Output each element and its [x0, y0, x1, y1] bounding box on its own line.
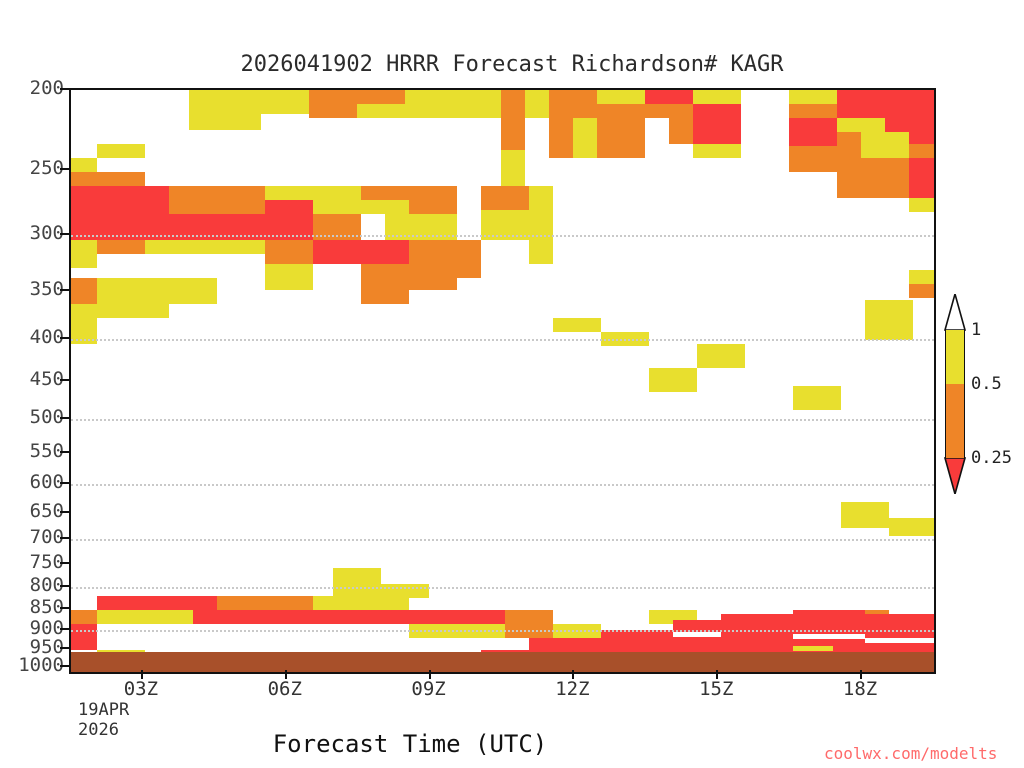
y-axis-tick-label: 500 [6, 406, 64, 428]
heatmap-cell [481, 210, 553, 240]
heatmap-cell [71, 624, 97, 650]
heatmap-cell [597, 104, 621, 158]
x-axis-title: Forecast Time (UTC) [0, 730, 820, 758]
heatmap-cell [505, 624, 553, 638]
y-axis-tick-label: 850 [6, 596, 64, 618]
heatmap-cell [553, 624, 601, 638]
plot-area [69, 88, 936, 674]
heatmap-cell [673, 632, 721, 637]
heatmap-cell [885, 90, 934, 118]
heatmap-cell [71, 158, 97, 172]
y-axis-tick-mark [60, 607, 69, 609]
heatmap-cell [573, 118, 597, 158]
heatmap-cell [909, 198, 934, 212]
y-axis-tick-label: 350 [6, 278, 64, 300]
y-axis-tick-mark [60, 337, 69, 339]
heatmap-cell [457, 240, 481, 264]
chart-root: 2026041902 HRRR Forecast Richardson# KAG… [0, 0, 1024, 768]
heatmap-cell [409, 214, 457, 240]
heatmap-cell [909, 144, 934, 158]
heatmap-cell [71, 278, 97, 304]
page-title: 2026041902 HRRR Forecast Richardson# KAG… [0, 52, 1024, 77]
heatmap-cell [357, 90, 405, 104]
heatmap-cell [645, 104, 693, 118]
y-axis-labels: 2002503003504004505005506006507007508008… [0, 0, 64, 768]
heatmap-cell [265, 200, 313, 240]
heatmap-cell [409, 240, 457, 264]
heatmap-cell [621, 104, 645, 158]
heatmap-cell [169, 186, 265, 214]
heatmap-cell [71, 186, 169, 240]
y-axis-tick-label: 600 [6, 471, 64, 493]
heatmap-cell [549, 90, 597, 118]
heatmap-cell [909, 284, 934, 298]
heatmap-cell [357, 104, 405, 118]
y-axis-tick-mark [60, 168, 69, 170]
heatmap-cell [789, 90, 837, 104]
heatmap-cell [525, 90, 549, 104]
x-axis-tick-label: 09Z [389, 678, 469, 700]
y-axis-tick-label: 750 [6, 551, 64, 573]
y-axis-tick-label: 700 [6, 526, 64, 548]
y-axis-tick-label: 250 [6, 157, 64, 179]
heatmap-cell [333, 568, 381, 596]
heatmap-cell [837, 104, 885, 118]
heatmap-cell [793, 386, 841, 410]
x-axis-tick-label: 15Z [676, 678, 756, 700]
x-axis-labels: 03Z06Z09Z12Z15Z18Z [0, 678, 1024, 718]
heatmap-cell [313, 186, 361, 214]
heatmap-cell [361, 214, 385, 240]
heatmap-cell [457, 624, 505, 638]
heatmap-cell [313, 596, 409, 610]
heatmap-cell [217, 596, 313, 610]
heatmap-cell [265, 186, 313, 200]
colorbar-tick-label: 0.25 [971, 448, 1012, 468]
heatmap-cell [481, 186, 529, 210]
heatmap-cell [169, 278, 217, 304]
heatmap-cell [97, 240, 145, 254]
heatmap-cell [841, 502, 889, 528]
heatmap-cell [793, 610, 865, 624]
heatmap-cell [71, 610, 97, 624]
heatmap-cell [645, 90, 693, 104]
heatmap-cell [313, 214, 361, 240]
heatmap-cell [71, 254, 97, 268]
gridline [71, 484, 934, 486]
y-axis-tick-mark [60, 417, 69, 419]
y-axis-tick-mark [60, 562, 69, 564]
heatmap-cell [529, 186, 553, 210]
heatmap-cell [385, 214, 409, 240]
y-axis-tick-mark [60, 88, 69, 90]
heatmap-cell [889, 518, 934, 536]
colorbar-tick-label: 1 [971, 320, 981, 340]
x-axis-tick-label: 03Z [101, 678, 181, 700]
y-axis-tick-mark [60, 585, 69, 587]
x-axis-tick-label: 06Z [245, 678, 325, 700]
y-axis-tick-mark [60, 628, 69, 630]
heatmap-cell [71, 304, 97, 344]
x-axis-tick-label: 18Z [820, 678, 900, 700]
y-axis-tick-mark [60, 647, 69, 649]
heatmap-cell [457, 264, 481, 278]
heatmap-cell [601, 332, 649, 346]
gridline [71, 339, 934, 341]
y-axis-tick-mark [60, 511, 69, 513]
y-axis-tick-mark [60, 233, 69, 235]
y-axis-tick-label: 650 [6, 500, 64, 522]
y-axis-tick-label: 200 [6, 77, 64, 99]
heatmap-cell [189, 90, 261, 130]
heatmap-cell [409, 624, 457, 638]
y-axis-tick-label: 450 [6, 368, 64, 390]
gridline [71, 419, 934, 421]
heatmap-cell [409, 186, 457, 214]
heatmap-cell [71, 240, 97, 254]
heatmap-cell [261, 90, 309, 114]
terrain-band [71, 652, 934, 672]
heatmap-cell [193, 610, 409, 624]
heatmap-cell [693, 104, 741, 144]
heatmap-cell [525, 104, 549, 118]
x-axis-tick-label: 12Z [532, 678, 612, 700]
heatmap-cell [409, 264, 457, 290]
heatmap-cell [789, 104, 837, 118]
heatmap-cell [169, 214, 265, 240]
heatmap-cell [361, 264, 409, 304]
y-axis-tick-mark [60, 537, 69, 539]
y-axis-tick-label: 800 [6, 574, 64, 596]
heatmap-cell [501, 90, 525, 150]
y-axis-tick-mark [60, 665, 69, 667]
y-axis-tick-mark [60, 289, 69, 291]
heatmap-cell [97, 278, 169, 318]
y-axis-tick-label: 550 [6, 440, 64, 462]
colorbar: 10.50.25 [941, 294, 969, 494]
heatmap-cell [505, 610, 553, 624]
y-axis-tick-mark [60, 482, 69, 484]
heatmap-cell [793, 634, 865, 639]
heatmap-cell [865, 638, 934, 643]
heatmap-cell [309, 90, 357, 118]
y-axis-tick-label: 400 [6, 326, 64, 348]
heatmap-canvas [71, 90, 934, 672]
y-axis-tick-label: 1000 [6, 654, 64, 676]
heatmap-cell [697, 344, 745, 368]
heatmap-cell [669, 118, 693, 144]
heatmap-cell [477, 90, 501, 104]
y-axis-tick-mark [60, 379, 69, 381]
heatmap-cell [361, 186, 409, 200]
colorbar-segment [945, 330, 965, 384]
heatmap-cell [265, 240, 313, 264]
heatmap-cell [789, 146, 837, 172]
heatmap-cell [71, 172, 97, 186]
heatmap-cell [837, 158, 885, 198]
heatmap-cell [793, 646, 833, 651]
heatmap-cell [145, 240, 265, 254]
heatmap-cell [909, 270, 934, 284]
gridline [71, 587, 934, 589]
heatmap-cell [477, 104, 501, 118]
heatmap-cell [865, 300, 913, 340]
y-axis-tick-label: 300 [6, 222, 64, 244]
gridline [71, 539, 934, 541]
heatmap-cell [885, 158, 909, 198]
heatmap-cell [265, 264, 313, 290]
heatmap-cell [549, 118, 573, 158]
heatmap-cell [361, 200, 409, 214]
heatmap-cell [529, 240, 553, 264]
heatmap-cell [837, 118, 885, 132]
colorbar-tick-label: 0.5 [971, 374, 1002, 394]
colorbar-segment [945, 384, 965, 458]
watermark: coolwx.com/modelts [824, 744, 997, 763]
heatmap-cell [97, 172, 145, 186]
heatmap-cell [649, 368, 697, 392]
heatmap-cell [97, 596, 217, 610]
heatmap-cell [97, 610, 193, 624]
heatmap-cell [837, 132, 861, 158]
heatmap-cell [313, 240, 409, 264]
heatmap-cell [693, 90, 741, 104]
heatmap-cell [789, 118, 837, 146]
y-axis-tick-mark [60, 451, 69, 453]
heatmap-cell [693, 144, 741, 158]
heatmap-cell [837, 90, 885, 104]
heatmap-cell [553, 318, 601, 332]
heatmap-cell [909, 158, 934, 198]
heatmap-cell [97, 144, 145, 158]
heatmap-cell [597, 90, 645, 104]
heatmap-cell [409, 610, 505, 624]
